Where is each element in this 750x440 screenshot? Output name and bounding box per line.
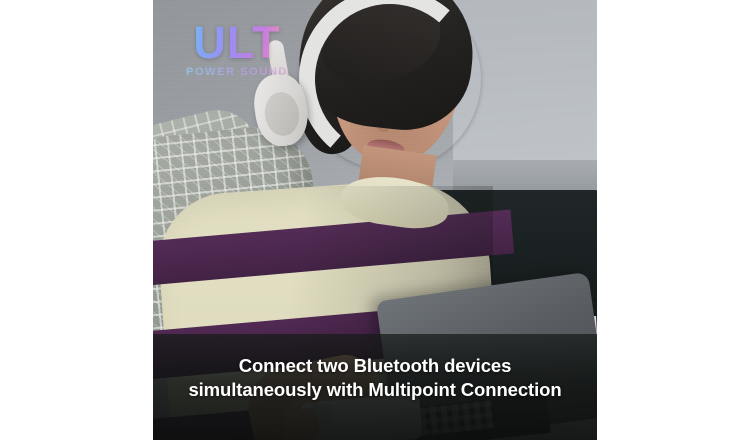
- lifestyle-photo: ULT POWER SOUND Connect two Bluetooth de…: [153, 0, 597, 440]
- ult-brand-logo: ULT POWER SOUND: [173, 22, 301, 78]
- product-image-canvas: ULT POWER SOUND Connect two Bluetooth de…: [0, 0, 750, 440]
- feature-caption: Connect two Bluetooth devices simultaneo…: [153, 354, 597, 402]
- feature-caption-line-2: simultaneously with Multipoint Connectio…: [165, 378, 585, 402]
- ult-tagline: POWER SOUND: [173, 66, 301, 78]
- ult-wordmark: ULT: [173, 22, 301, 65]
- feature-caption-line-1: Connect two Bluetooth devices: [165, 354, 585, 378]
